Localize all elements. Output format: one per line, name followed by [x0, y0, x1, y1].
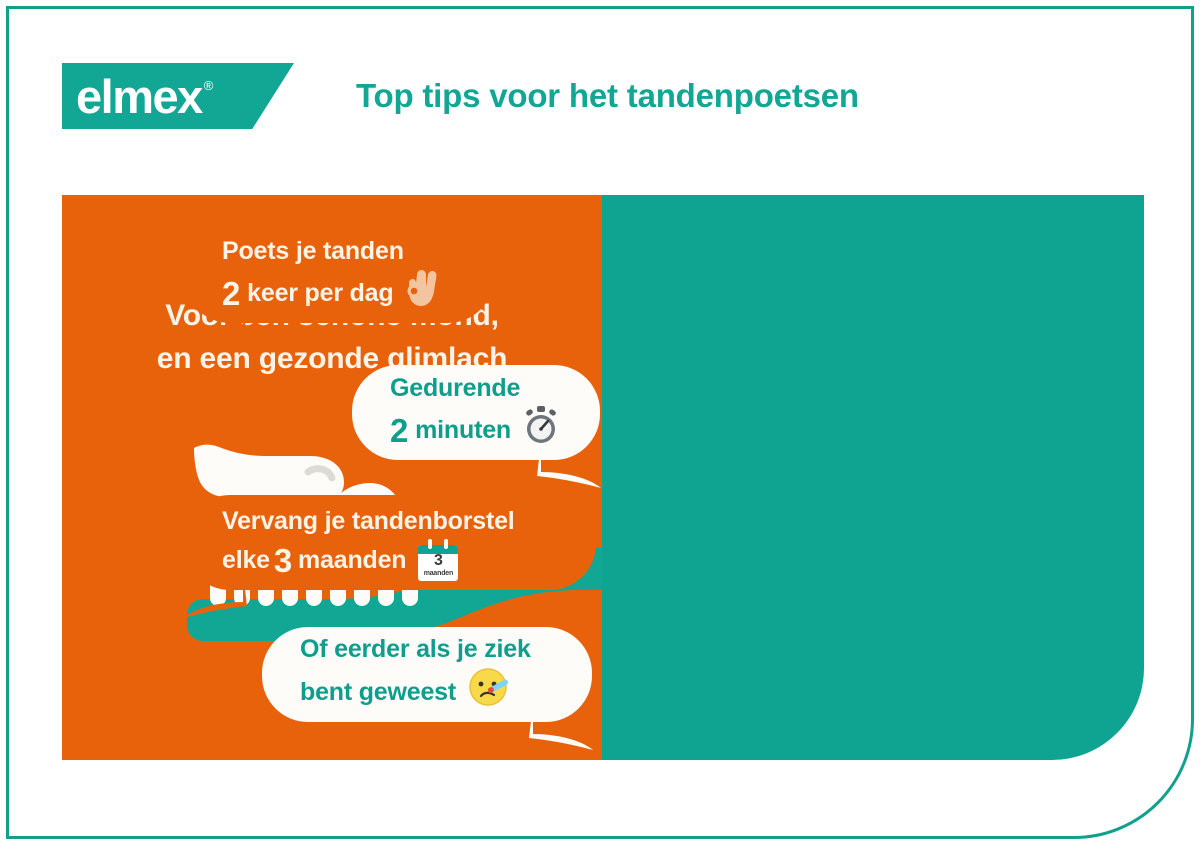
tip-line-2-prefix: elke [222, 543, 270, 579]
tip-line-2: 2 keer per dag [222, 269, 468, 318]
bubble-content: Poets je tanden 2 keer per dag [222, 234, 468, 318]
tip-line-2-text: bent geweest [300, 675, 456, 711]
bubble-content: Of eerder als je ziek bent geweest [300, 632, 566, 718]
ok-hand-icon [405, 269, 439, 318]
tip-bubble-illness: Of eerder als je ziek bent geweest [262, 627, 592, 722]
logo-wordmark: elmex [76, 73, 202, 120]
tip-line-2-text: minuten [415, 413, 511, 449]
sick-face-icon [468, 667, 508, 718]
elmex-logo: elmex ® [62, 63, 294, 129]
tip-line-2: elke 3 maanden 3 maanden [222, 539, 570, 581]
right-panel [602, 195, 1144, 760]
tip-line-2-text: maanden [298, 543, 406, 579]
stopwatch-icon [523, 406, 559, 455]
tip-line-1: Of eerder als je ziek [300, 632, 566, 668]
header: elmex ® Top tips voor het tandenpoetsen [62, 62, 859, 130]
calendar-label: maanden [418, 570, 458, 577]
tip-bubble-replace: Vervang je tandenborstel elke 3 maanden … [184, 495, 596, 590]
tip-line-1: Vervang je tandenborstel [222, 504, 570, 540]
tip-bubble-frequency: Poets je tanden 2 keer per dag [184, 228, 494, 323]
calendar-number: 3 [418, 553, 458, 569]
bubble-content: Gedurende 2 minuten [390, 371, 574, 455]
tip-line-1: Gedurende [390, 371, 574, 407]
infographic-page: elmex ® Top tips voor het tandenpoetsen … [0, 0, 1200, 845]
tip-line-2: bent geweest [300, 667, 566, 718]
tip-line-1: Poets je tanden [222, 234, 468, 270]
content-panels: Voor een schone mond, en een gezonde gli… [62, 195, 1144, 760]
registered-trademark-icon: ® [204, 79, 214, 92]
tip-number: 2 [222, 277, 240, 310]
tip-number: 3 [274, 544, 292, 577]
bubble-content: Vervang je tandenborstel elke 3 maanden … [222, 504, 570, 582]
calendar-icon: 3 maanden [418, 539, 458, 581]
tip-line-2-text: keer per dag [247, 276, 393, 312]
page-title: Top tips voor het tandenpoetsen [356, 77, 859, 115]
tip-number: 2 [390, 414, 408, 447]
tip-line-2: 2 minuten [390, 406, 574, 455]
tip-bubble-duration: Gedurende 2 minuten [352, 365, 600, 460]
